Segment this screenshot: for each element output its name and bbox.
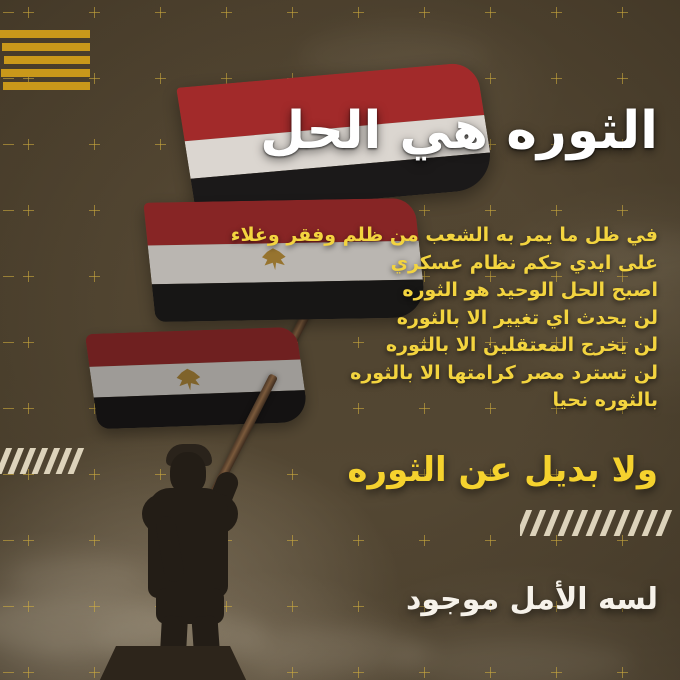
stone-plinth <box>98 646 248 680</box>
poster-footer-text: لسه الأمل موجود <box>238 582 658 617</box>
diagonal-stripes-right <box>520 510 680 536</box>
poster-body-text: في ظل ما يمر به الشعب من ظلم وفقر وغلاء … <box>238 222 658 415</box>
gold-bar <box>0 30 90 38</box>
body-line: في ظل ما يمر به الشعب من ظلم وفقر وغلاء <box>238 222 658 250</box>
body-line: لن تسترد مصر كرامتها الا بالثوره <box>238 360 658 388</box>
diagonal-stripes-left <box>0 448 88 474</box>
poster-canvas: الثوره هي الحل في ظل ما يمر به الشعب من … <box>0 0 680 680</box>
stripe <box>655 510 676 536</box>
body-line: بالثوره نحيا <box>238 387 658 415</box>
gold-bars-decoration <box>0 30 90 95</box>
body-line: لن يخرج المعتقلين الا بالثوره <box>238 332 658 360</box>
body-line: لن يحدث اي تغيير الا بالثوره <box>238 305 658 333</box>
poster-tagline: ولا بديل عن الثوره <box>238 450 658 490</box>
gold-bar <box>2 43 90 51</box>
gold-bar <box>4 56 90 64</box>
body-line: اصبح الحل الوحيد هو الثوره <box>238 277 658 305</box>
poster-headline: الثوره هي الحل <box>188 104 658 159</box>
gold-bar <box>3 82 90 90</box>
gold-bar <box>1 69 90 77</box>
body-line: على ايدي حكم نظام عسكري <box>238 250 658 278</box>
